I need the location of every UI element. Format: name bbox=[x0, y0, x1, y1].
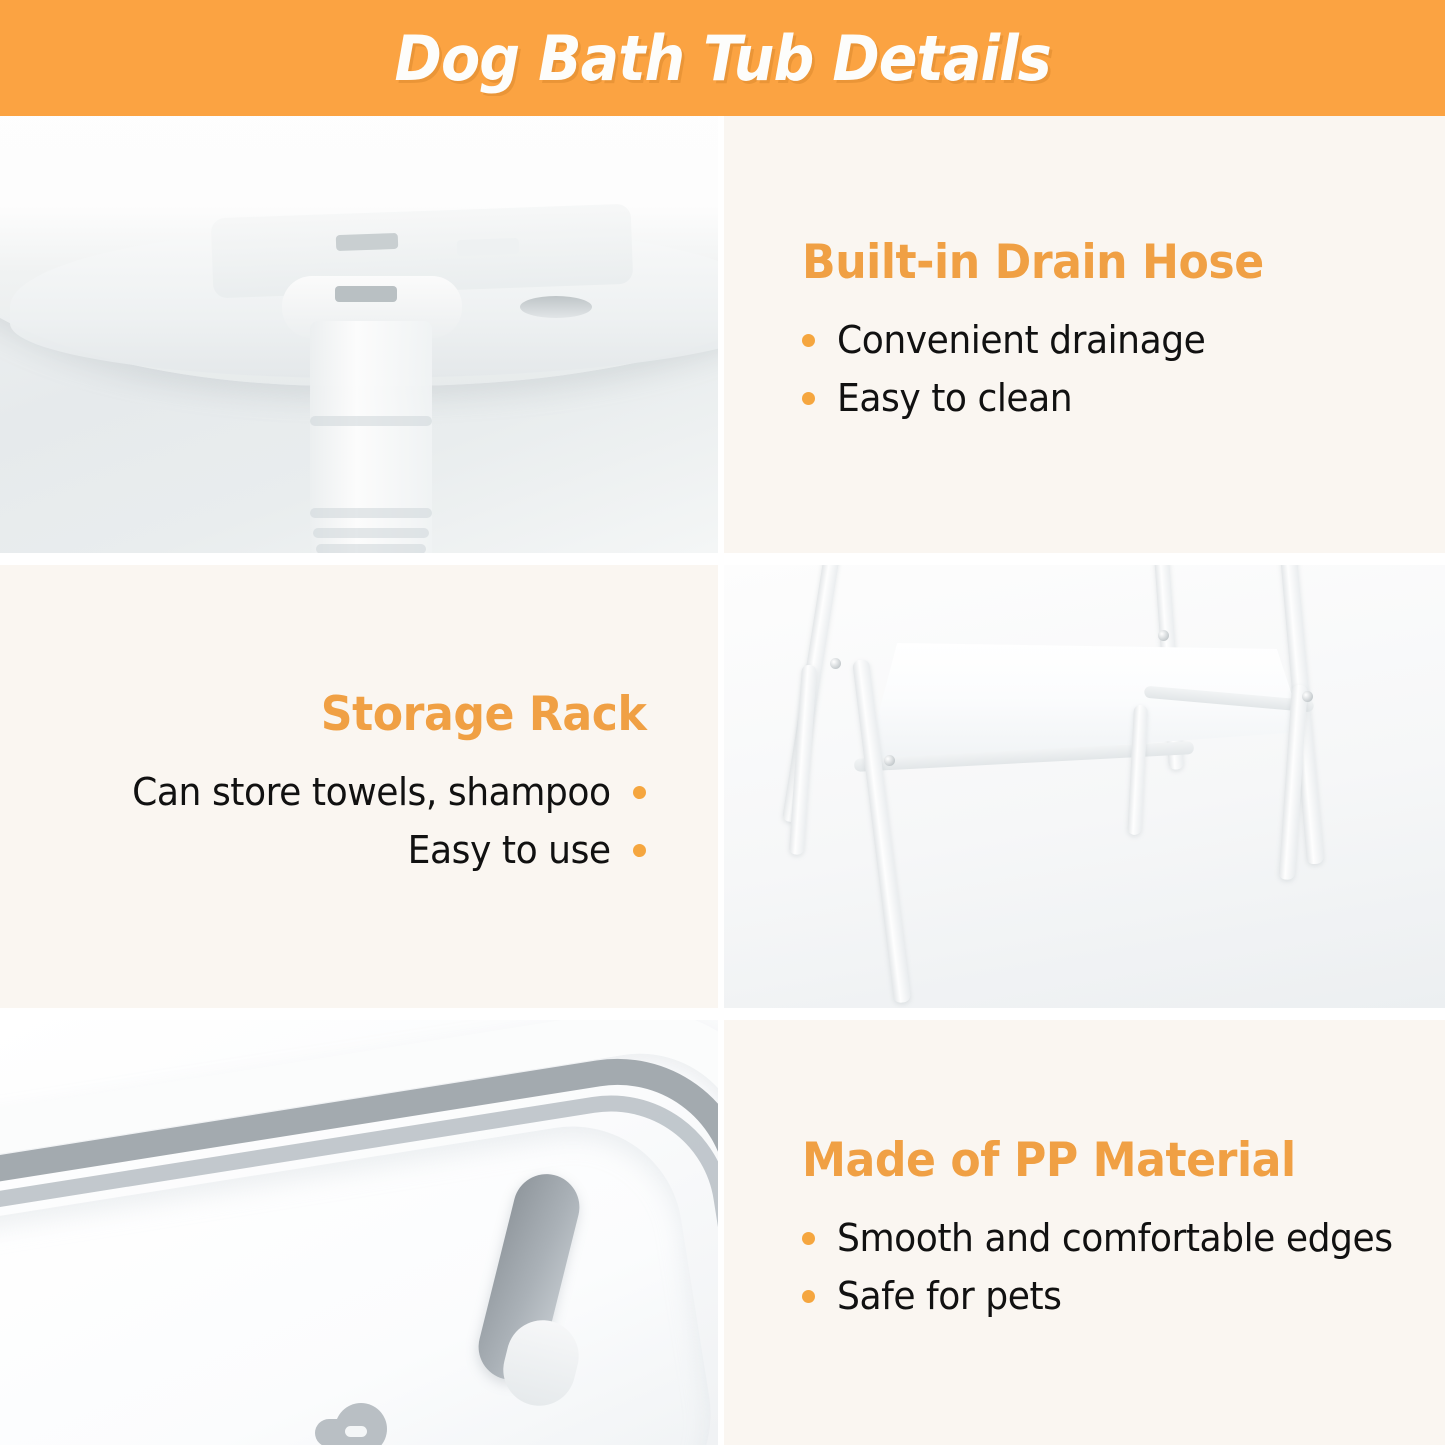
bullet-label: Easy to clean bbox=[837, 376, 1072, 420]
spout-band-shape bbox=[310, 416, 432, 426]
bullet-label: Smooth and comfortable edges bbox=[837, 1216, 1393, 1260]
feature-row-storage-rack: Storage Rack Can store towels, shampoo E… bbox=[0, 565, 1445, 1008]
bullet-dot-icon bbox=[633, 786, 646, 799]
bullet-label: Can store towels, shampoo bbox=[133, 770, 611, 814]
drain-slot-shape bbox=[457, 238, 520, 256]
storage-rack-text-panel: Storage Rack Can store towels, shampoo E… bbox=[0, 565, 718, 1008]
list-item: Smooth and comfortable edges bbox=[802, 1216, 1422, 1260]
bullet-label: Easy to use bbox=[408, 828, 611, 872]
feature-bullets-storage-rack: Can store towels, shampoo Easy to use bbox=[107, 760, 646, 886]
bullet-dot-icon bbox=[802, 1232, 815, 1245]
bullet-dot-icon bbox=[802, 334, 815, 347]
storage-rack-photo bbox=[724, 565, 1445, 1008]
list-item: Easy to use bbox=[107, 828, 646, 872]
page-title: Dog Bath Tub Details bbox=[394, 22, 1050, 95]
spout-band-shape bbox=[316, 544, 426, 553]
pp-material-text-panel: Made of PP Material Smooth and comfortab… bbox=[724, 1020, 1445, 1445]
bullet-label: Safe for pets bbox=[837, 1274, 1061, 1318]
feature-row-pp-material: Made of PP Material Smooth and comfortab… bbox=[0, 1020, 1445, 1445]
drain-plug-notch bbox=[345, 1426, 367, 1437]
drain-plug-icon bbox=[315, 1403, 387, 1445]
feature-bullets-pp-material: Smooth and comfortable edges Safe for pe… bbox=[802, 1206, 1422, 1332]
pp-material-photo bbox=[0, 1020, 718, 1445]
screw-icon bbox=[830, 658, 841, 669]
drain-hose-photo bbox=[0, 116, 718, 553]
pp-material-image bbox=[0, 1020, 718, 1445]
screw-icon bbox=[1158, 630, 1169, 641]
feature-grid: Built-in Drain Hose Convenient drainage … bbox=[0, 116, 1445, 1445]
bullet-label: Convenient drainage bbox=[837, 318, 1205, 362]
header-banner: Dog Bath Tub Details bbox=[0, 0, 1445, 116]
list-item: Can store towels, shampoo bbox=[107, 770, 646, 814]
feature-title-pp-material: Made of PP Material bbox=[802, 1133, 1296, 1188]
feature-row-drain-hose: Built-in Drain Hose Convenient drainage … bbox=[0, 116, 1445, 553]
drain-spout-shape bbox=[310, 321, 432, 553]
drain-hole-shape bbox=[520, 296, 592, 318]
screw-icon bbox=[1302, 691, 1313, 702]
storage-rack-image bbox=[724, 565, 1445, 1008]
drain-slot-shape bbox=[335, 286, 397, 302]
drain-hose-text-panel: Built-in Drain Hose Convenient drainage … bbox=[724, 116, 1445, 553]
feature-title-storage-rack: Storage Rack bbox=[320, 687, 646, 742]
list-item: Easy to clean bbox=[802, 376, 1225, 420]
infographic-page: Dog Bath Tub Details bbox=[0, 0, 1445, 1445]
drain-hose-image bbox=[0, 116, 718, 553]
drain-slot-shape bbox=[336, 233, 399, 251]
list-item: Convenient drainage bbox=[802, 318, 1225, 362]
bullet-dot-icon bbox=[633, 844, 646, 857]
spout-band-shape bbox=[310, 508, 432, 518]
feature-bullets-drain-hose: Convenient drainage Easy to clean bbox=[802, 308, 1225, 434]
list-item: Safe for pets bbox=[802, 1274, 1422, 1318]
screw-icon bbox=[884, 755, 895, 766]
spout-band-shape bbox=[313, 528, 429, 538]
bullet-dot-icon bbox=[802, 1290, 815, 1303]
bullet-dot-icon bbox=[802, 392, 815, 405]
feature-title-drain-hose: Built-in Drain Hose bbox=[802, 235, 1264, 290]
